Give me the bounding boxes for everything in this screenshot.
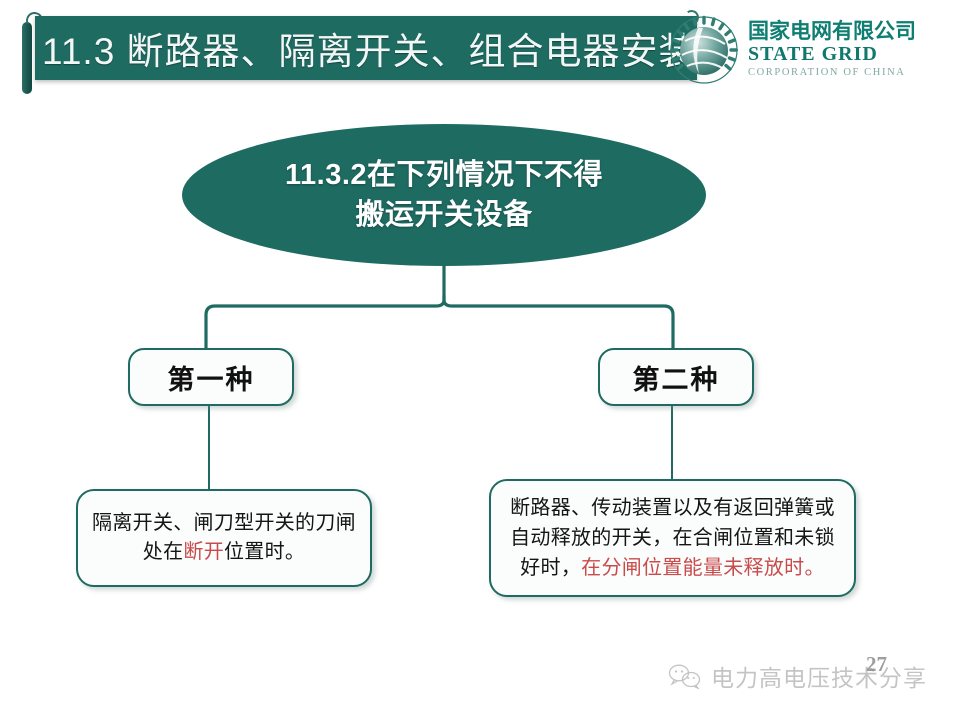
detail-node-2-highlight: 在分闸位置能量未释放时。 (581, 557, 825, 579)
root-node-ellipse: 11.3.2在下列情况下不得 搬运开关设备 (182, 124, 706, 266)
root-node-line1: 11.3.2在下列情况下不得 (285, 155, 603, 195)
root-node-label: 11.3.2在下列情况下不得 搬运开关设备 (285, 155, 603, 235)
detail-node-1-highlight: 断开 (183, 541, 224, 563)
root-node-line2: 搬运开关设备 (285, 195, 603, 235)
scroll-pin-left (22, 22, 32, 94)
state-grid-logo-text: 国家电网有限公司 STATE GRID CORPORATION OF CHINA (748, 20, 953, 80)
branch-node-2[interactable]: 第二种 (598, 348, 754, 406)
branch-node-1[interactable]: 第一种 (128, 348, 294, 406)
slide-canvas: 11.3 断路器、隔离开关、组合电器安装 (0, 0, 960, 720)
branch-node-1-label: 第一种 (168, 358, 255, 397)
detail-node-1-text: 隔离开关、闸刀型开关的刀闸处在断开位置时。 (90, 509, 358, 567)
wechat-watermark-label: 电力高电压技术分享 (711, 659, 927, 693)
logo-company-en: STATE GRID (748, 43, 953, 66)
wechat-watermark: 电力高电压技术分享 (668, 655, 958, 697)
logo-company-cn: 国家电网有限公司 (748, 20, 953, 43)
detail-node-2[interactable]: 断路器、传动装置以及有返回弹簧或自动释放的开关，在合闸位置和未锁好时，在分闸位置… (489, 479, 856, 597)
detail-node-1-suffix: 位置时。 (224, 541, 305, 563)
branch-node-2-label: 第二种 (633, 358, 720, 397)
detail-node-2-text: 断路器、传动装置以及有返回弹簧或自动释放的开关，在合闸位置和未锁好时，在分闸位置… (503, 493, 842, 583)
detail-node-1[interactable]: 隔离开关、闸刀型开关的刀闸处在断开位置时。 (76, 489, 372, 587)
state-grid-logo: 国家电网有限公司 STATE GRID CORPORATION OF CHINA (668, 14, 953, 92)
page-number: 27 (866, 652, 887, 677)
page-title: 11.3 断路器、隔离开关、组合电器安装 (42, 18, 702, 78)
logo-company-en-sub: CORPORATION OF CHINA (748, 66, 953, 80)
wechat-icon (668, 663, 702, 689)
state-grid-globe-emblem-icon (668, 14, 740, 86)
